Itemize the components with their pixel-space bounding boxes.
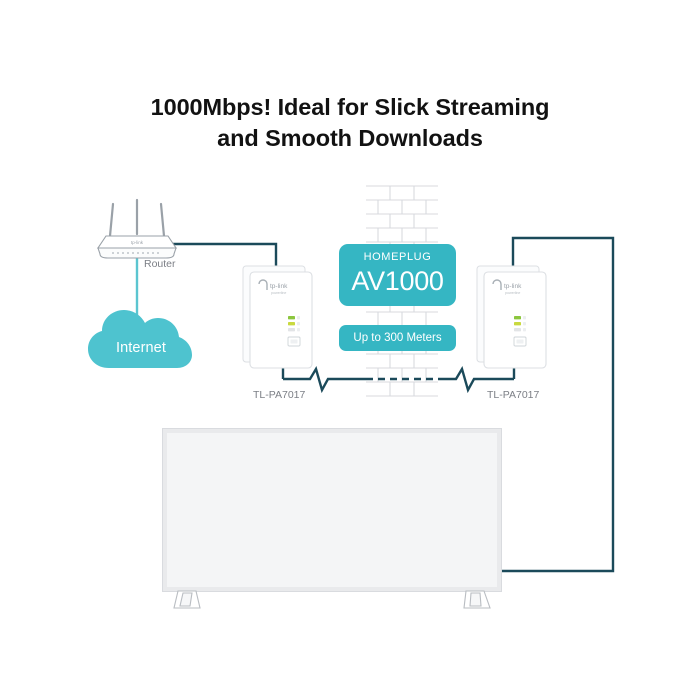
internet-cloud-icon: [88, 310, 192, 368]
internet-cloud-label: Internet: [95, 340, 187, 356]
tv-frame: [163, 429, 501, 591]
television: [163, 429, 501, 591]
homeplug-av1000-badge: HOMEPLUG AV1000: [339, 244, 456, 306]
infographic-canvas: 1000Mbps! Ideal for Slick Streaming and …: [0, 0, 700, 700]
av1000-badge-label: AV1000: [339, 265, 456, 297]
svg-text:tp-link: tp-link: [131, 240, 144, 245]
svg-text:tp-link: tp-link: [504, 283, 522, 290]
homeplug-badge-label: HOMEPLUG: [339, 250, 456, 264]
svg-text:powerline: powerline: [271, 291, 286, 295]
powerline-adapter-left: tp-link powerline: [243, 266, 312, 368]
device-label-right: TL-PA7017: [487, 389, 539, 401]
powerline-adapter-right: tp-link powerline: [477, 266, 546, 368]
router-icon: tp-link: [98, 200, 176, 258]
cable-router-to-left-adapter: [160, 244, 276, 268]
device-label-left: TL-PA7017: [253, 389, 305, 401]
svg-text:powerline: powerline: [505, 291, 520, 295]
router-label: Router: [144, 258, 176, 270]
svg-text:tp-link: tp-link: [270, 283, 288, 290]
distance-badge: Up to 300 Meters: [339, 325, 456, 351]
network-diagram: tp-link: [0, 0, 700, 700]
